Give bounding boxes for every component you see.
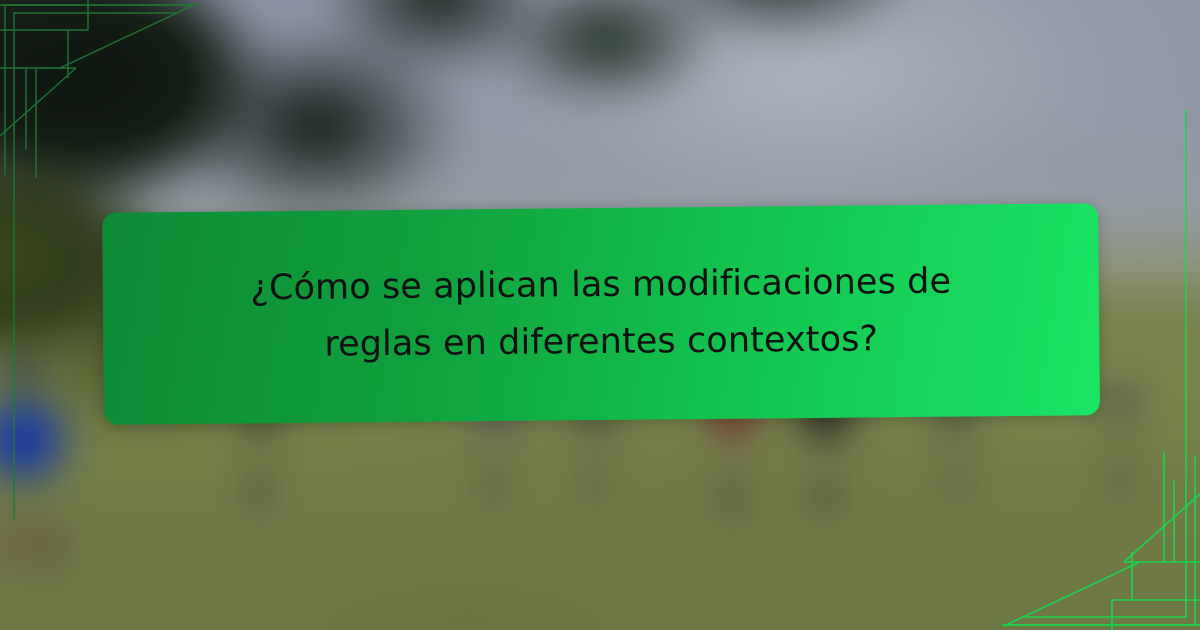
question-card-canvas: ¿Cómo se aplican las modificaciones de r… [0,0,1200,630]
person-silhouette [0,476,80,606]
tree-branch [475,0,912,133]
question-line-1: ¿Cómo se aplican las modificaciones de [142,253,1059,318]
question-banner-content: ¿Cómo se aplican las modificaciones de r… [102,253,1099,376]
question-banner: ¿Cómo se aplican las modificaciones de r… [102,203,1100,425]
question-line-2: reglas en diferentes contextos? [143,310,1060,375]
